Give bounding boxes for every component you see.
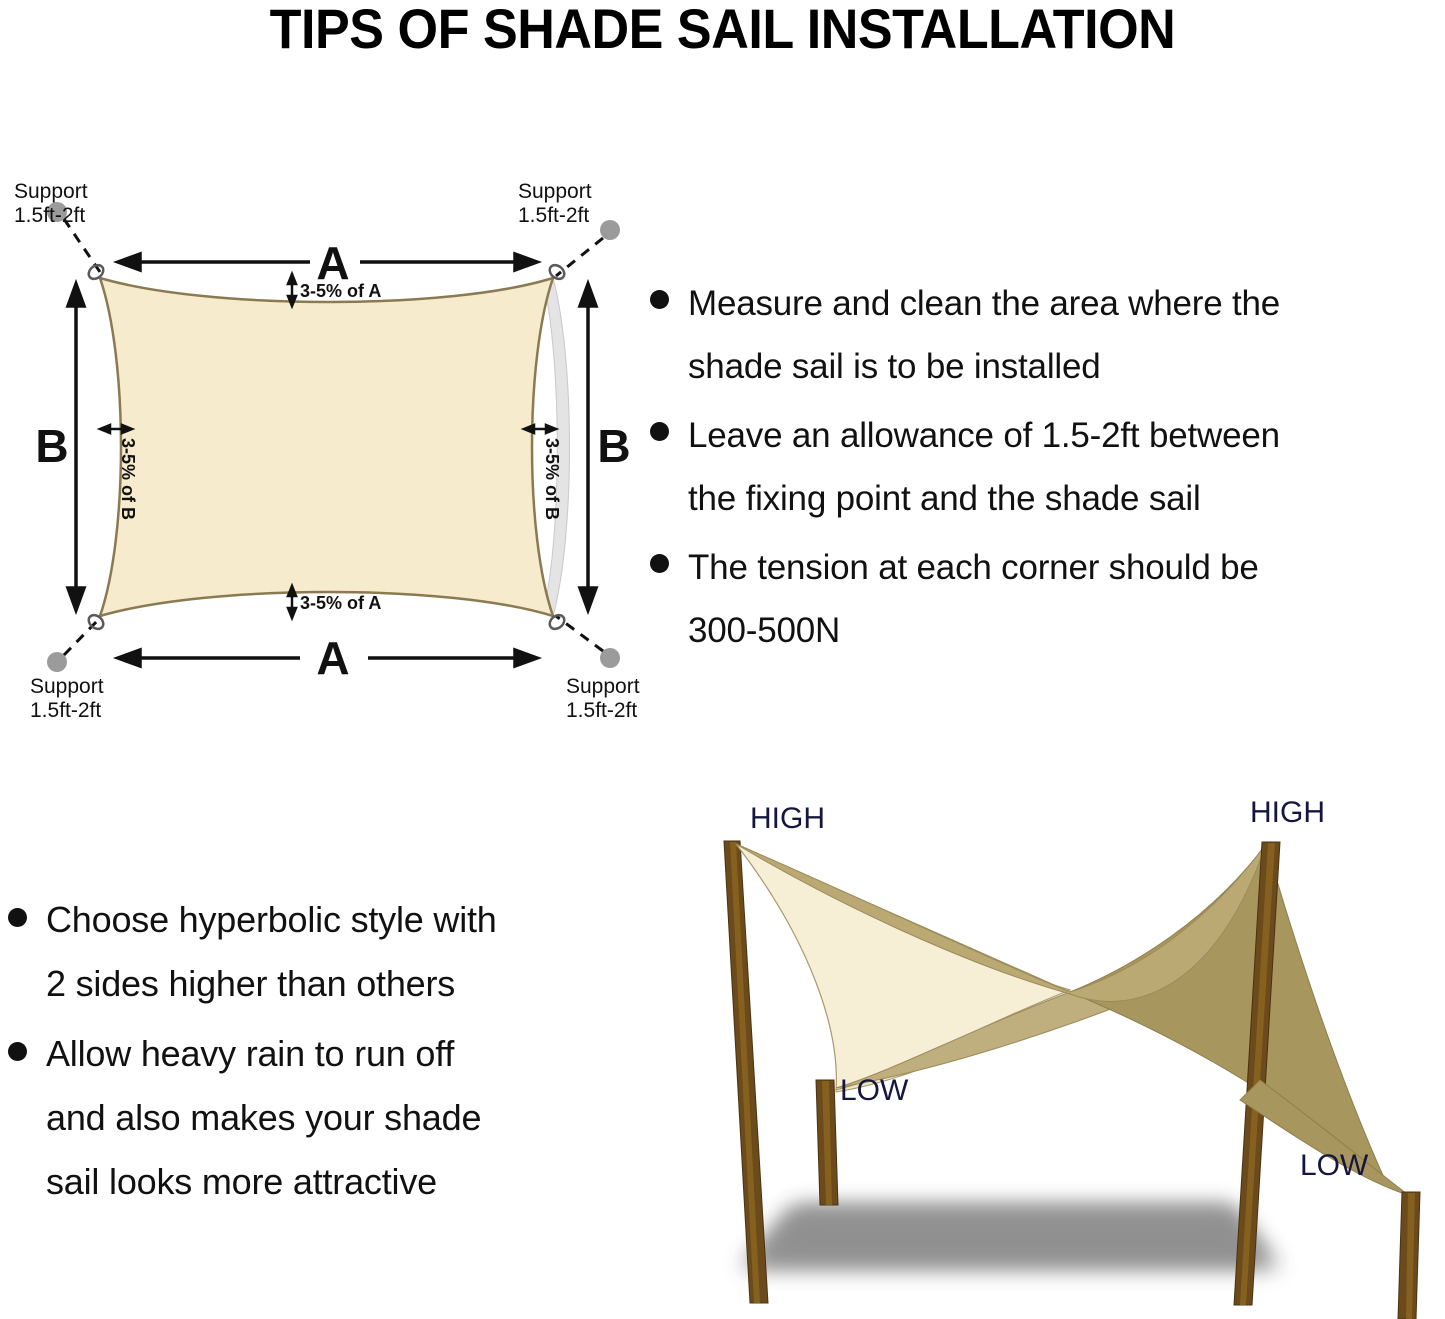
corner-label-left-high: HIGH bbox=[750, 802, 825, 835]
list-item: Leave an allowance of 1.5-2ft between th… bbox=[638, 404, 1445, 530]
corner-label-left-low: LOW bbox=[840, 1074, 909, 1107]
curve-label-left: 3-5% of B bbox=[118, 438, 138, 520]
support-label-line2: 1.5ft-2ft bbox=[30, 699, 101, 722]
support-label-line2: 1.5ft-2ft bbox=[566, 699, 637, 722]
list-item-line: shade sail is to be installed bbox=[688, 335, 1445, 398]
support-label-line1: Support bbox=[518, 180, 592, 203]
post-left-high bbox=[724, 841, 768, 1303]
bullet-icon bbox=[8, 908, 27, 927]
support-leader-bottom-left bbox=[64, 618, 100, 655]
support-label-line1: Support bbox=[30, 675, 104, 698]
dimension-label-right-b: B bbox=[597, 420, 630, 472]
dimension-label-left-b: B bbox=[35, 420, 68, 472]
corner-label-right-high: HIGH bbox=[1250, 796, 1325, 829]
list-item-line: 2 sides higher than others bbox=[46, 952, 630, 1016]
support-label-line2: 1.5ft-2ft bbox=[518, 204, 589, 227]
dimension-arrow-right-b bbox=[580, 284, 596, 610]
rectangular-sail-diagram: A A B B 3-5% of A 3-5% of A 3-5% bbox=[0, 150, 660, 740]
list-item-line: Leave an allowance of 1.5-2ft between bbox=[688, 404, 1445, 467]
support-label-bottom-right: Support 1.5ft-2ft bbox=[566, 675, 640, 722]
support-label-line1: Support bbox=[14, 180, 88, 203]
dimension-arrow-left-b bbox=[68, 284, 84, 610]
hyperbolic-tips-list: Choose hyperbolic style with 2 sides hig… bbox=[0, 888, 630, 1220]
dimension-label-bottom-a: A bbox=[316, 632, 349, 684]
corner-label-right-low: LOW bbox=[1300, 1149, 1369, 1182]
list-item: Choose hyperbolic style with 2 sides hig… bbox=[0, 888, 630, 1016]
support-label-top-left: Support 1.5ft-2ft bbox=[14, 180, 88, 227]
support-label-line1: Support bbox=[566, 675, 640, 698]
support-label-line2: 1.5ft-2ft bbox=[14, 204, 85, 227]
post-left-low bbox=[816, 1080, 838, 1205]
page-title: TIPS OF SHADE SAIL INSTALLATION bbox=[51, 0, 1395, 58]
list-item-line: the fixing point and the shade sail bbox=[688, 467, 1445, 530]
ground-shadow-core bbox=[752, 1205, 1270, 1263]
bullet-icon bbox=[650, 554, 669, 573]
curve-label-top: 3-5% of A bbox=[300, 281, 381, 301]
list-item-line: Choose hyperbolic style with bbox=[46, 888, 630, 952]
hyperbolic-sail-diagram: HIGH HIGH LOW LOW bbox=[640, 780, 1445, 1319]
support-dot-top-right bbox=[600, 220, 620, 240]
bullet-icon bbox=[650, 290, 669, 309]
bullet-icon bbox=[8, 1042, 27, 1061]
support-label-top-right: Support 1.5ft-2ft bbox=[518, 180, 592, 227]
shade-sail-shape bbox=[100, 278, 553, 616]
curve-tick-left bbox=[100, 425, 132, 433]
installation-tips-list: Measure and clean the area where the sha… bbox=[638, 272, 1445, 668]
list-item: The tension at each corner should be 300… bbox=[638, 536, 1445, 662]
list-item-line: sail looks more attractive bbox=[46, 1150, 630, 1214]
curve-tick-bottom bbox=[288, 586, 296, 618]
list-item-line: Measure and clean the area where the bbox=[688, 272, 1445, 335]
post-right-low bbox=[1398, 1192, 1420, 1319]
curve-tick-right bbox=[524, 425, 556, 433]
support-label-bottom-left: Support 1.5ft-2ft bbox=[30, 675, 104, 722]
bullet-icon bbox=[650, 422, 669, 441]
list-item: Allow heavy rain to run off and also mak… bbox=[0, 1022, 630, 1214]
list-item: Measure and clean the area where the sha… bbox=[638, 272, 1445, 398]
curve-label-bottom: 3-5% of A bbox=[300, 593, 381, 613]
list-item-line: and also makes your shade bbox=[46, 1086, 630, 1150]
list-item-line: The tension at each corner should be bbox=[688, 536, 1445, 599]
curve-tick-top bbox=[288, 274, 296, 306]
curve-label-right: 3-5% of B bbox=[542, 438, 562, 520]
list-item-line: Allow heavy rain to run off bbox=[46, 1022, 630, 1086]
list-item-line: 300-500N bbox=[688, 599, 1445, 662]
sail-surface-light bbox=[736, 844, 1070, 1090]
